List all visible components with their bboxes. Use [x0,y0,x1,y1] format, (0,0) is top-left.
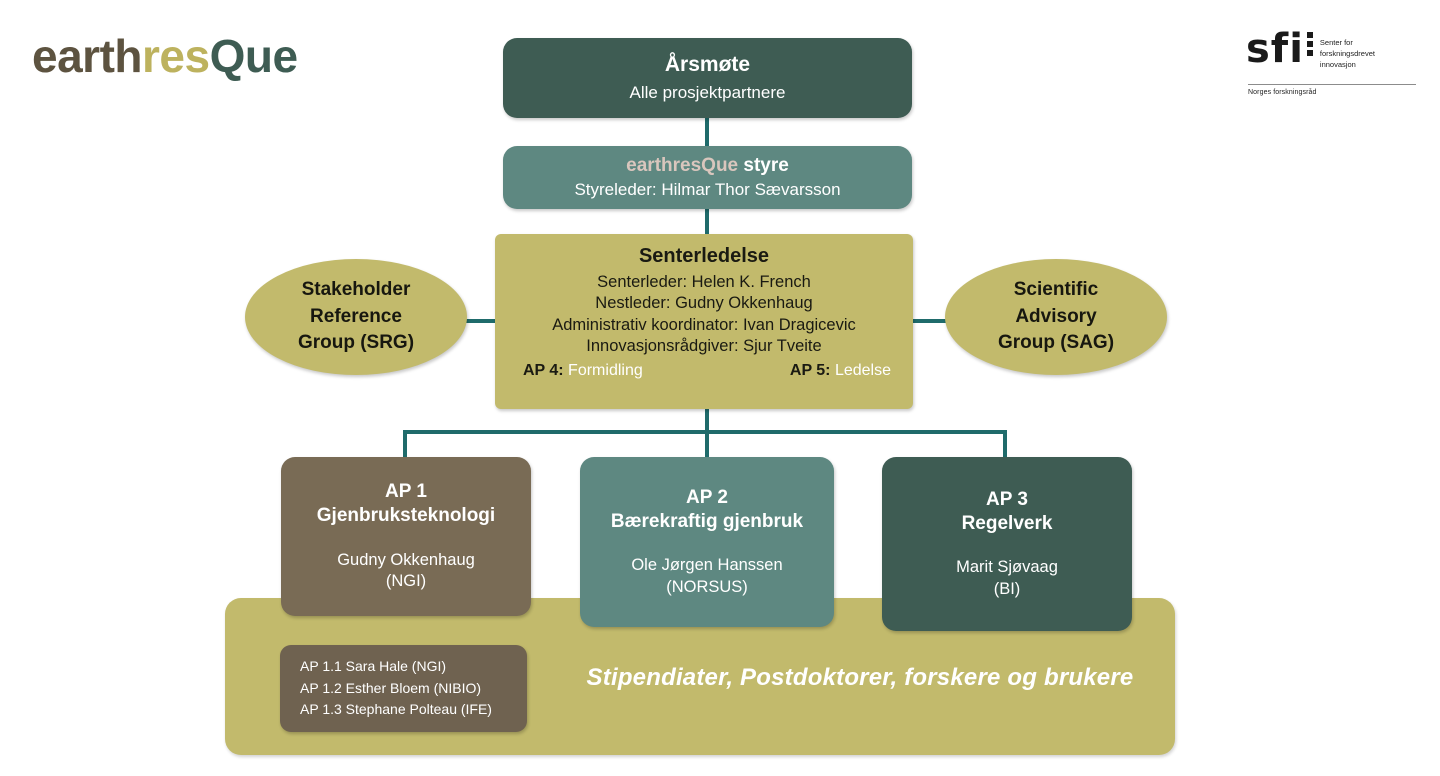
srg-label: Stakeholder Reference Group (SRG) [298,277,414,358]
senterledelse-line-4: Innovasjonsrådgiver: Sjur Tveite [586,336,821,357]
connector-horizontal-bus [403,430,1007,434]
arsmote-subtitle: Alle prosjektpartnere [630,82,786,104]
styre-title: earthresQue styre [626,154,789,178]
org-chart-canvas: earthresQue sfi Senter for forskningsdre… [0,0,1440,776]
node-arsmote[interactable]: Årsmøte Alle prosjektpartnere [503,38,912,118]
styre-title-rest: styre [738,155,789,176]
logo-part-que: Que [210,30,298,82]
senterledelse-line-2: Nestleder: Gudny Okkenhaug [595,293,812,314]
sfi-logo: sfi Senter for forskningsdrevet innovasj… [1246,30,1416,104]
ap2-org: (NORSUS) [666,577,748,598]
ap1-org: (NGI) [386,571,426,592]
ap4-label: AP 4: [523,362,564,379]
node-ap1[interactable]: AP 1 Gjenbruksteknologi Gudny Okkenhaug … [281,457,531,616]
ap1-lead: Gudny Okkenhaug [337,550,475,571]
sfi-logo-row: sfi Senter for forskningsdrevet innovasj… [1246,30,1416,71]
node-styre[interactable]: earthresQue styre Styreleder: Hilmar Tho… [503,146,912,209]
sfi-subtitle: Senter for forskningsdrevet innovasjon [1320,38,1375,71]
ap5-entry: AP 5: Ledelse [790,362,891,380]
ap5-value: Ledelse [831,362,892,379]
ap3-org: (BI) [994,579,1021,600]
connector-senterledelse-trunk [705,409,709,461]
banner-label: Stipendiater, Postdoktorer, forskere og … [580,664,1140,692]
connector-styre-senterledelse [705,209,709,235]
styre-subtitle: Styreleder: Hilmar Thor Sævarsson [574,179,840,201]
sfi-footer: Norges forskningsråd [1248,89,1317,96]
ap4-value: Formidling [564,362,643,379]
sag-label: Scientific Advisory Group (SAG) [998,277,1114,358]
node-scientific-advisory-group[interactable]: Scientific Advisory Group (SAG) [945,259,1167,375]
senterledelse-line-1: Senterleder: Helen K. French [597,272,811,293]
ap1-title-line1: AP 1 [385,480,427,504]
arsmote-title: Årsmøte [665,52,750,78]
ap1-subtask-2: AP 1.2 Esther Bloem (NIBIO) [300,678,527,700]
ap3-title-line2: Regelverk [962,512,1053,536]
ap5-label: AP 5: [790,362,831,379]
logo-part-res: res [142,30,210,82]
ap1-title-line2: Gjenbruksteknologi [317,504,495,528]
ap2-title-line2: Bærekraftig gjenbruk [611,510,803,534]
sfi-wordmark: sfi [1246,30,1304,68]
senterledelse-ap-row: AP 4: Formidling AP 5: Ledelse [495,358,913,380]
node-ap3[interactable]: AP 3 Regelverk Marit Sjøvaag (BI) [882,457,1132,631]
node-stakeholder-reference-group[interactable]: Stakeholder Reference Group (SRG) [245,259,467,375]
node-senterledelse[interactable]: Senterledelse Senterleder: Helen K. Fren… [495,234,913,409]
sfi-divider [1248,84,1416,85]
ap2-title-line1: AP 2 [686,486,728,510]
earthresque-logo: earthresQue [32,33,298,79]
ap3-title-line1: AP 3 [986,488,1028,512]
connector-arsmote-styre [705,118,709,146]
node-ap2[interactable]: AP 2 Bærekraftig gjenbruk Ole Jørgen Han… [580,457,834,627]
logo-part-earth: earth [32,30,142,82]
styre-title-brand: earthresQue [626,155,738,176]
ap4-entry: AP 4: Formidling [523,362,643,380]
ap1-subtasks-box[interactable]: AP 1.1 Sara Hale (NGI) AP 1.2 Esther Blo… [280,645,527,732]
ap2-lead: Ole Jørgen Hanssen [631,555,782,576]
sfi-dots-icon [1307,32,1313,56]
senterledelse-line-3: Administrativ koordinator: Ivan Dragicev… [552,315,856,336]
ap1-subtask-1: AP 1.1 Sara Hale (NGI) [300,656,527,678]
senterledelse-title: Senterledelse [639,244,769,269]
ap3-lead: Marit Sjøvaag [956,557,1058,578]
ap1-subtask-3: AP 1.3 Stephane Polteau (IFE) [300,699,527,721]
